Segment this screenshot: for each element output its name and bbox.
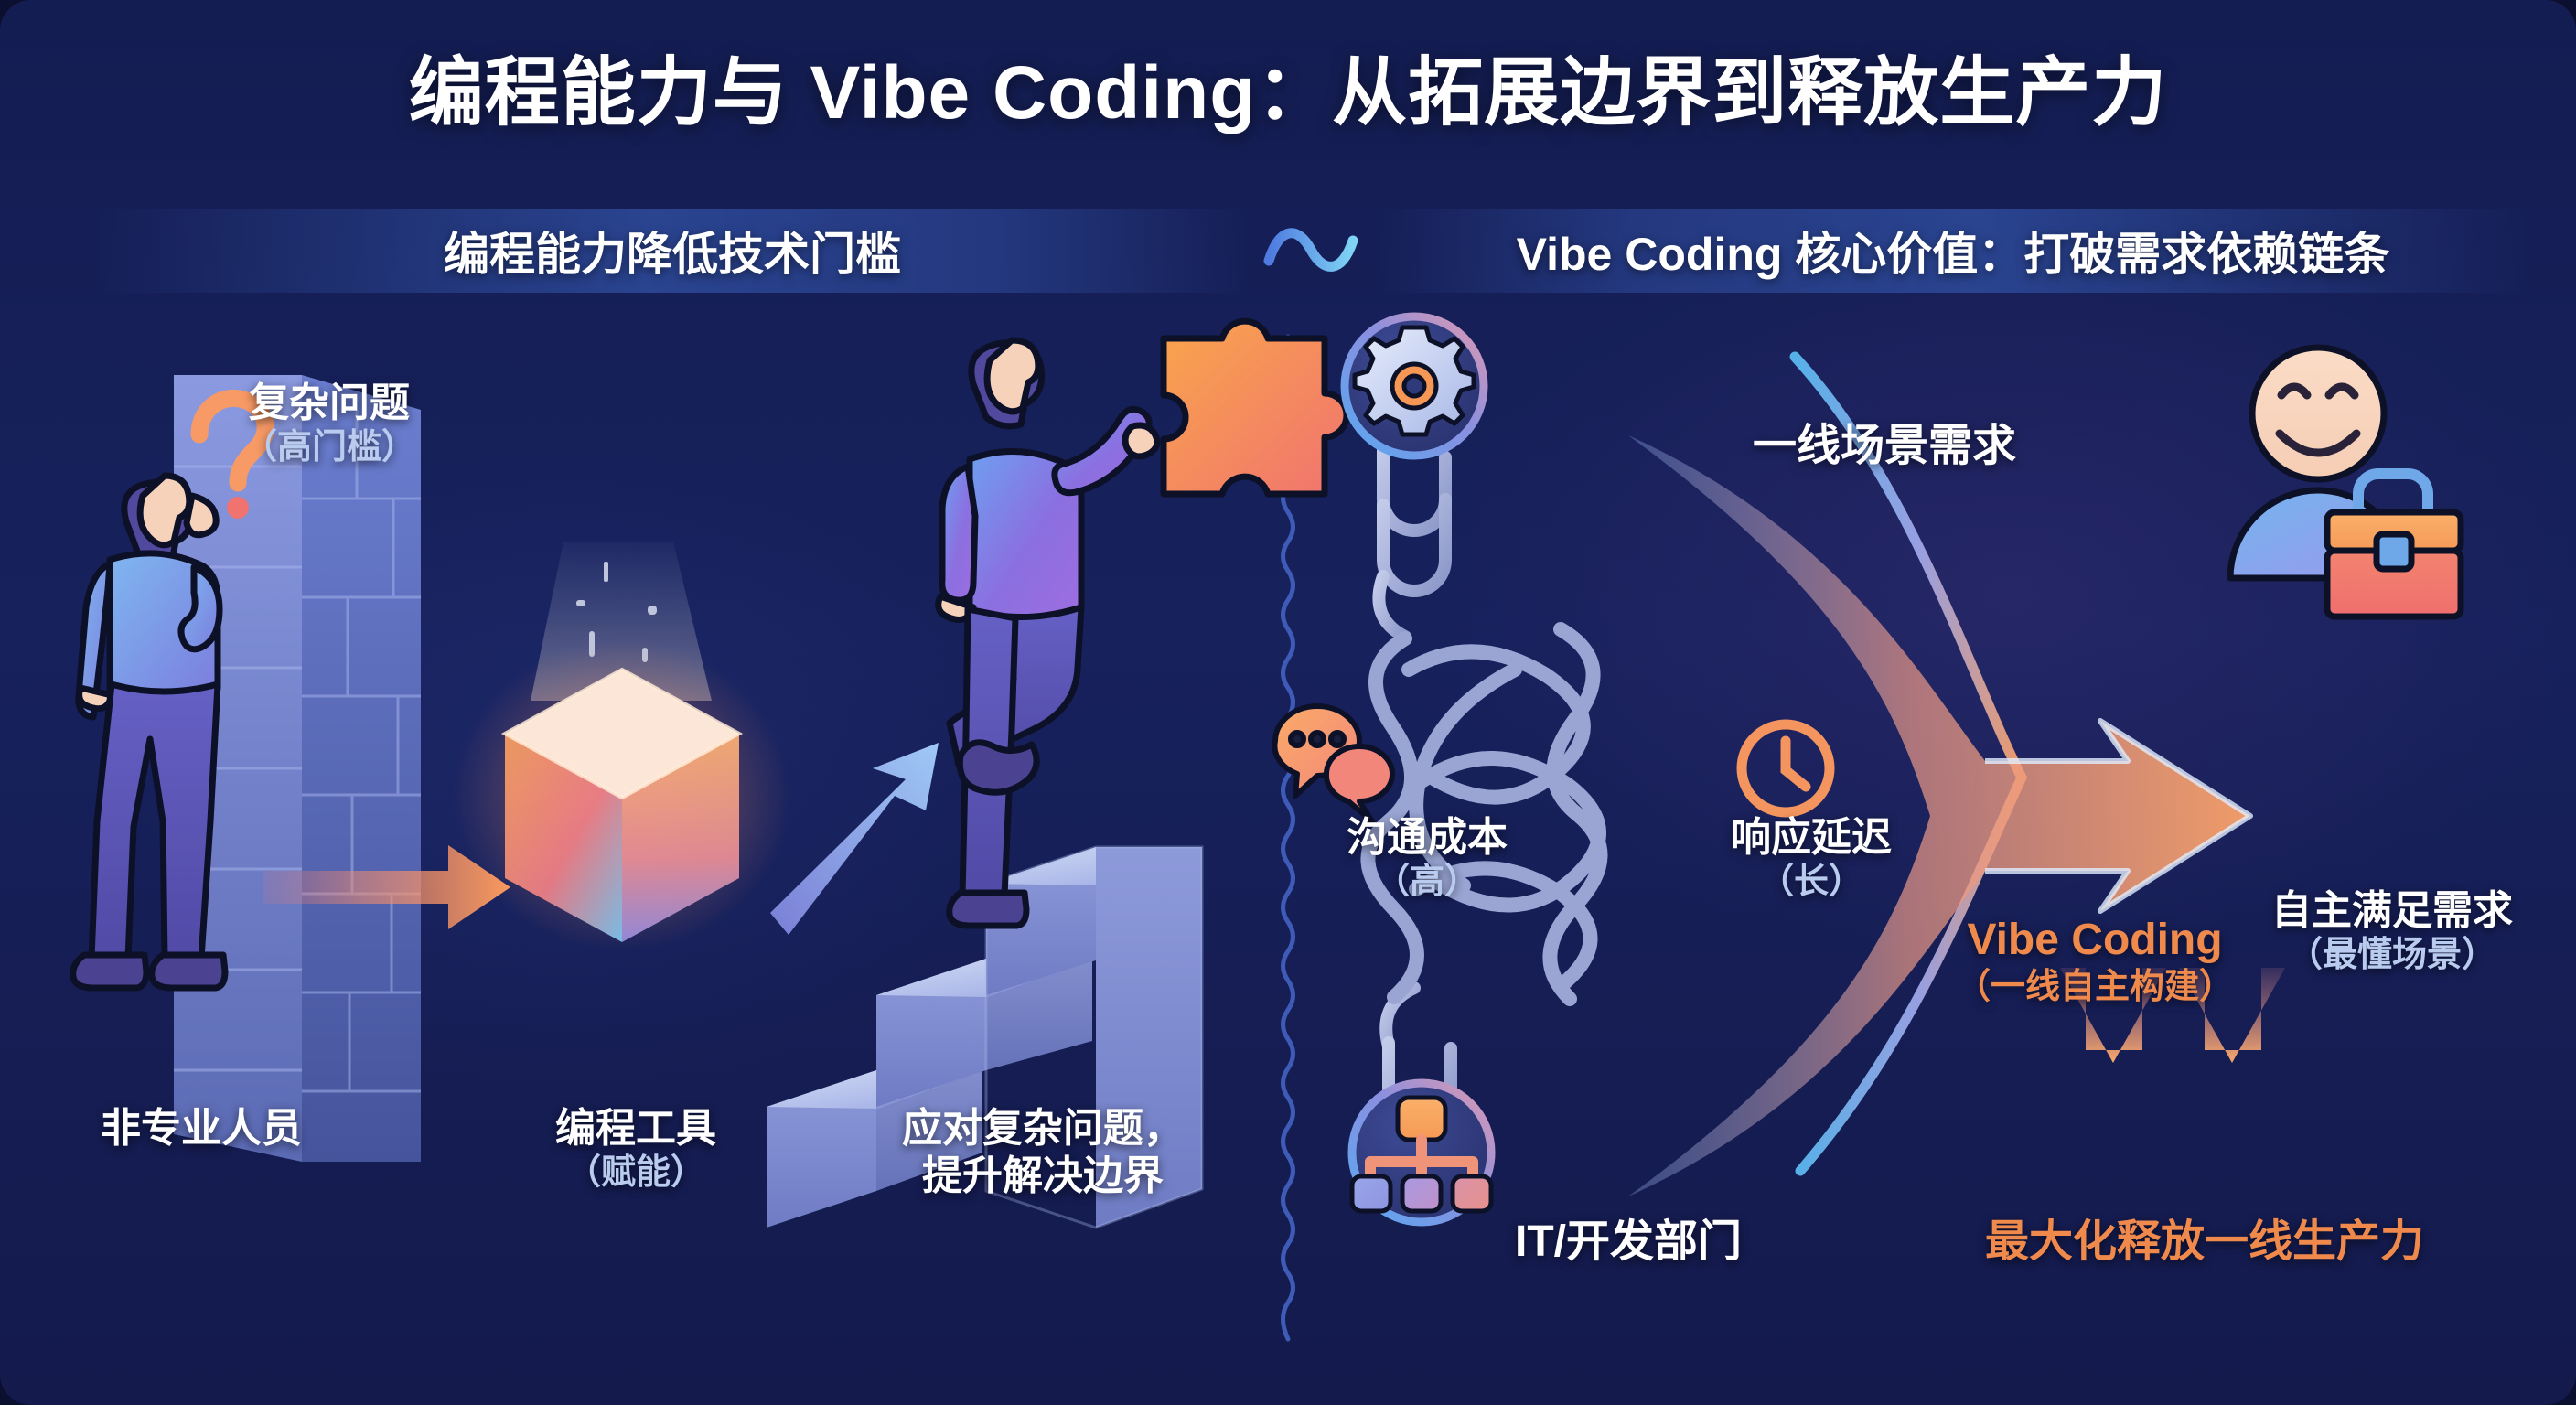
puzzle-piece-icon [1164,321,1347,494]
comm-cost-label: 沟通成本 （高） [1299,814,1555,903]
outcome-label: 自主满足需求 （最懂场景） [2214,887,2571,976]
blue-up-arrow-icon [770,743,939,935]
infographic-canvas: 编程能力与 Vibe Coding：从拓展边界到释放生产力 编程能力降低技术门槛… [0,0,2576,1405]
gear-node [1345,316,1484,456]
left-panel-header: 编程能力降低技术门槛 [101,209,1244,293]
glowing-cube-icon [453,640,791,951]
tool-label: 编程工具 （赋能） [485,1105,787,1194]
top-node-label: 一线场景需求 [1692,421,2077,473]
org-chart-node [1352,1083,1491,1222]
gear-icon [1355,327,1474,434]
bottom-node-label: IT/开发部门 [1473,1217,1784,1269]
bottom-slogan: 最大化释放一线生产力 [1921,1217,2488,1269]
tilde-wave-icon [1251,220,1370,285]
right-panel-header: Vibe Coding 核心价值：打破需求依赖链条 [1381,209,2525,293]
clock-icon [1742,724,1830,812]
response-delay-label: 响应延迟 （长） [1683,814,1939,903]
person-label: 非专业人员 [37,1105,366,1153]
climbing-person-icon [939,340,1157,926]
converging-arrow-icon [1628,357,2250,1196]
page-title: 编程能力与 Vibe Coding：从拓展边界到释放生产力 [0,31,2576,140]
stairs-label: 应对复杂问题， 提升解决边界 [832,1105,1253,1200]
wall-label: 复杂问题 （高门槛） [183,380,476,468]
